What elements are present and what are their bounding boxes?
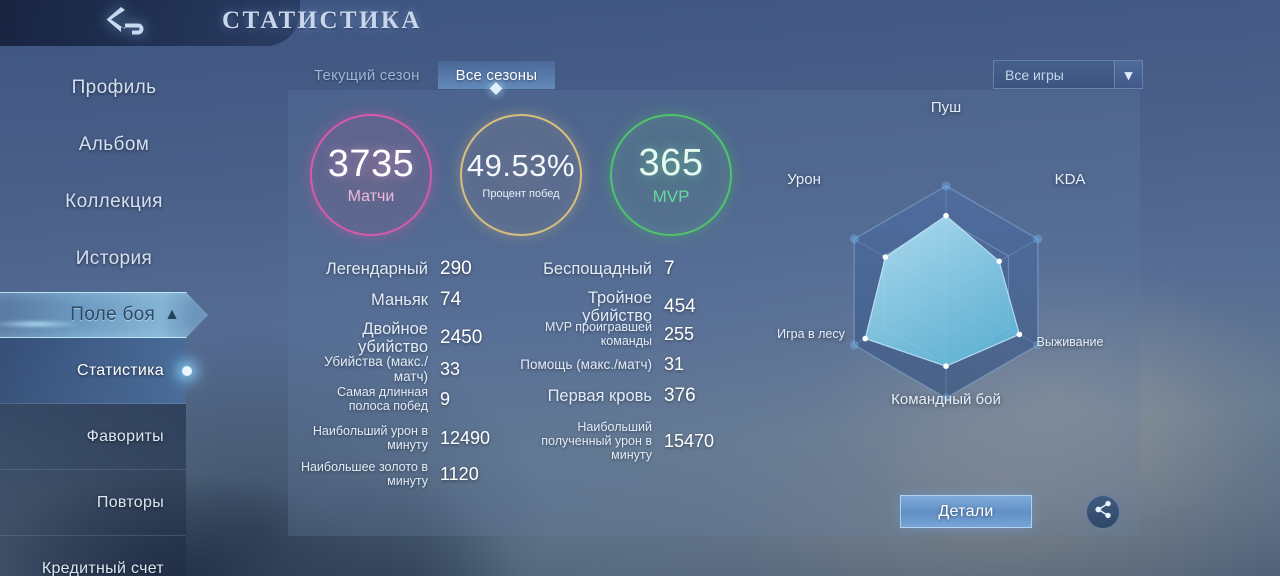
radar-data-point [996, 259, 1002, 265]
stat-row: MVP проигравшей команды255 [516, 320, 738, 348]
stat-value: 9 [440, 389, 514, 410]
winrate-value: 49.53% [467, 150, 575, 181]
radar-axis-label-4: Командный бой [876, 392, 1016, 409]
sidebar-subitem-credit[interactable]: Кредитный счет [0, 536, 186, 576]
stat-row: Наибольшее золото в минуту1120 [296, 460, 514, 488]
stat-label: Наибольший урон в минуту [296, 424, 440, 452]
share-icon [1094, 500, 1113, 524]
winrate-caption: Процент побед [482, 188, 559, 200]
stat-circle-winrate: 49.53% Процент побед [460, 114, 582, 236]
sidebar-subitem-favorites[interactable]: Фавориты [0, 404, 186, 470]
back-button[interactable] [96, 3, 170, 43]
stat-row: Помощь (макс./матч)31 [516, 354, 738, 375]
radar-corner-glow [850, 235, 859, 244]
sidebar-subitem-replays[interactable]: Повторы [0, 470, 186, 536]
back-arrow-icon [105, 6, 161, 41]
games-filter-value: Все игры [994, 67, 1114, 83]
header-bar: СТАТИСТИКА [0, 0, 1280, 46]
stat-circle-mvp: 365 MVP [610, 114, 732, 236]
tab-all-seasons-label: Все сезоны [456, 67, 538, 84]
radar-corner-glow [1033, 235, 1042, 244]
radar-axis-label-6: Урон [774, 172, 834, 189]
sidebar-subitem-statistics[interactable]: Статистика [0, 338, 186, 404]
radar-axis-label-1: Пуш [916, 100, 976, 117]
stat-row: Легендарный290 [296, 258, 514, 280]
stat-value: 1120 [440, 464, 514, 485]
stat-label: Убийства (макс./матч) [296, 354, 440, 384]
season-tabs: Текущий сезон Все сезоны [296, 61, 555, 89]
sidebar-item-battlefield-label: Поле боя [70, 304, 155, 326]
performance-radar-chart: ПушKDAВыживаниеКомандный бойИгра в лесуУ… [756, 100, 1136, 480]
radar-data-point [943, 363, 949, 369]
radar-axis-label-5: Игра в лесу [776, 328, 846, 342]
stat-value: 12490 [440, 428, 514, 449]
radar-axis-label-3: Выживание [1024, 336, 1116, 350]
mvp-caption: MVP [653, 187, 690, 207]
stat-row: Маньяк74 [296, 289, 514, 311]
matches-value: 3735 [328, 145, 415, 183]
tab-all-seasons[interactable]: Все сезоны [438, 61, 556, 89]
radar-data-point [862, 336, 868, 342]
games-filter-dropdown[interactable]: Все игры ▾ [993, 60, 1143, 89]
share-button[interactable] [1086, 495, 1120, 529]
stat-value: 255 [664, 324, 738, 345]
stat-row: Наибольший полученный урон в минуту15470 [516, 420, 738, 462]
stat-value: 33 [440, 359, 514, 380]
stat-row: Самая длинная полоса побед9 [296, 385, 514, 413]
radar-svg [756, 100, 1136, 480]
stat-value: 290 [440, 258, 514, 280]
page-title: СТАТИСТИКА [222, 7, 422, 35]
radar-data-point [883, 254, 889, 260]
stat-label: Первая кровь [516, 387, 664, 405]
tab-current-season[interactable]: Текущий сезон [296, 61, 438, 89]
stat-value: 31 [664, 354, 738, 375]
stat-value: 15470 [664, 431, 738, 452]
radar-data-point [943, 213, 949, 219]
stat-label: Помощь (макс./матч) [516, 357, 664, 372]
stat-label: Самая длинная полоса побед [296, 385, 440, 413]
sidebar-subnav-panel: Статистика Фавориты Повторы Кредитный сч… [0, 338, 186, 576]
radar-axis-label-2: KDA [1042, 172, 1098, 189]
stat-row: Первая кровь376 [516, 385, 738, 407]
sidebar-nav: Профиль Альбом Коллекция История Поле бо… [0, 46, 290, 576]
stat-circle-matches: 3735 Матчи [310, 114, 432, 236]
stat-row: Наибольший урон в минуту12490 [296, 424, 514, 452]
sidebar-item-profile[interactable]: Профиль [0, 66, 228, 110]
details-button[interactable]: Детали [900, 495, 1032, 528]
summary-circles: 3735 Матчи 49.53% Процент побед 365 MVP [310, 114, 770, 236]
active-indicator-dot [182, 366, 192, 376]
stat-row: Беспощадный7 [516, 258, 738, 280]
sidebar-item-history[interactable]: История [0, 237, 228, 281]
stat-label: Наибольшее золото в минуту [296, 460, 440, 488]
stat-label: Наибольший полученный урон в минуту [516, 420, 664, 462]
chevron-up-icon: ▲ [164, 307, 180, 323]
radar-corner-glow [850, 341, 859, 350]
stat-row: Двойное убийство2450 [296, 320, 514, 357]
stat-value: 74 [440, 289, 514, 311]
stat-label: MVP проигравшей команды [516, 320, 664, 348]
stat-value: 2450 [440, 327, 514, 349]
matches-caption: Матчи [348, 188, 395, 206]
stat-label: Легендарный [296, 260, 440, 278]
radar-corner-glow [942, 182, 951, 191]
radar-data-point [1017, 332, 1023, 338]
sidebar-subitem-statistics-label: Статистика [77, 362, 164, 380]
stat-row: Убийства (макс./матч)33 [296, 354, 514, 384]
sidebar-item-collection[interactable]: Коллекция [0, 180, 228, 224]
stat-value: 454 [664, 296, 738, 318]
stat-label: Двойное убийство [296, 320, 440, 357]
statistics-panel: 3735 Матчи 49.53% Процент побед 365 MVP … [288, 90, 1140, 536]
sidebar-item-battlefield[interactable]: Поле боя ▲ [0, 292, 208, 338]
sidebar-item-album[interactable]: Альбом [0, 123, 228, 167]
stat-value: 7 [664, 258, 738, 280]
stat-label: Маньяк [296, 291, 440, 309]
mvp-value: 365 [639, 144, 704, 182]
chevron-down-icon: ▾ [1114, 61, 1142, 88]
stat-value: 376 [664, 385, 738, 407]
stat-label: Беспощадный [516, 260, 664, 278]
